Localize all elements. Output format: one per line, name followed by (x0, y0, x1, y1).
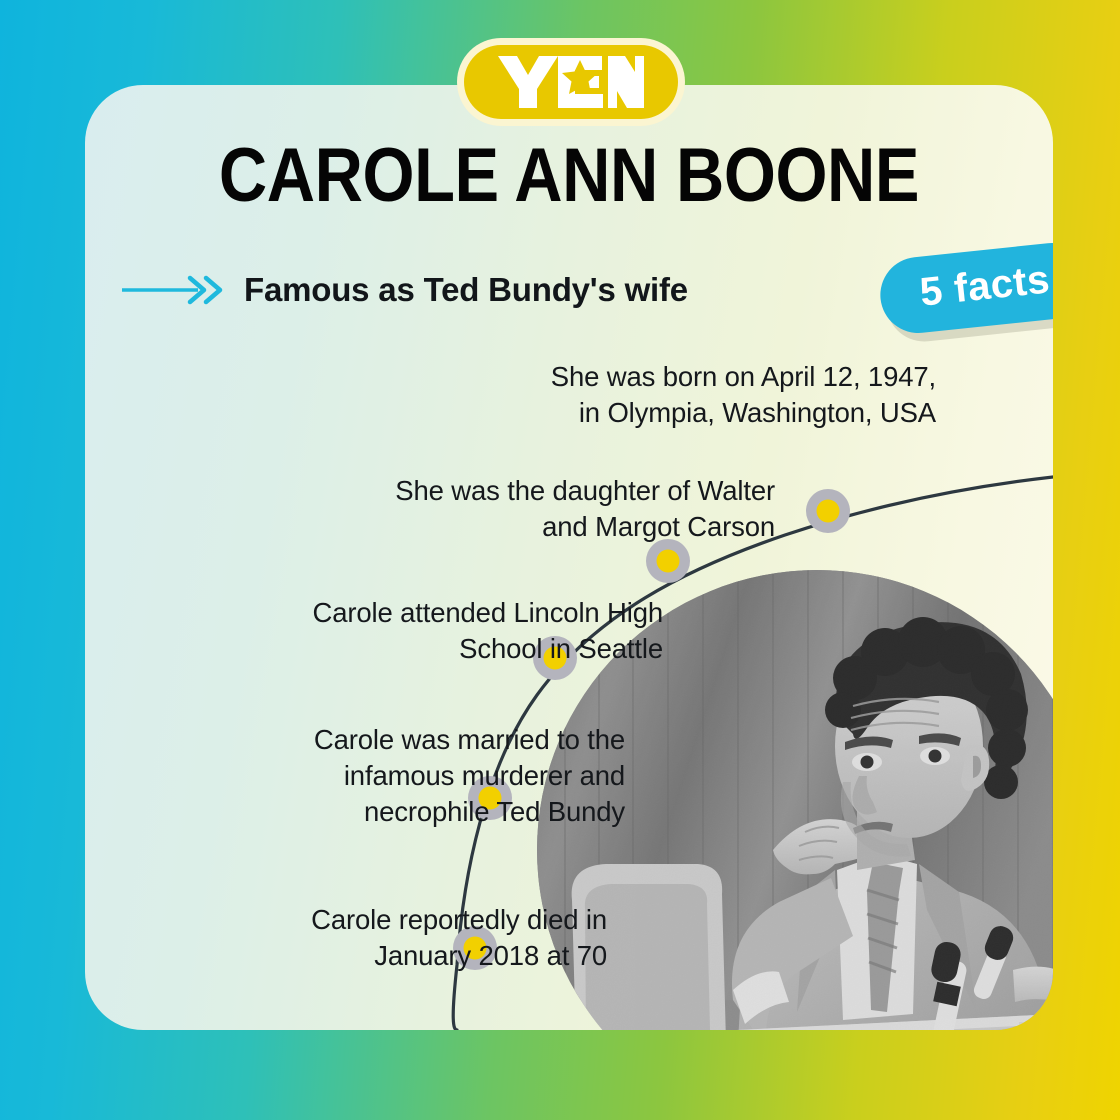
timeline-marker (806, 489, 850, 533)
fact-1-line-2: in Olympia, Washington, USA (476, 395, 936, 431)
page-subtitle: Famous as Ted Bundy's wife (244, 271, 688, 309)
fact-5: Carole reportedly died in January 2018 a… (267, 902, 607, 974)
infographic-card: CAROLE ANN BOONE Famous as Ted Bundy's w… (85, 85, 1053, 1030)
long-arrow-right-icon (120, 274, 230, 306)
fact-5-line-2: January 2018 at 70 (267, 938, 607, 974)
fact-3-line-2: School in Seattle (263, 631, 663, 667)
fact-2-line-2: and Margot Carson (355, 509, 775, 545)
facts-count-badge-label: 5 facts (918, 257, 1052, 315)
facts-count-badge[interactable]: 5 facts (877, 239, 1053, 337)
fact-5-line-1: Carole reportedly died in (267, 902, 607, 938)
fact-4-line-1: Carole was married to the (275, 722, 625, 758)
facts-count-badge-inner: 5 facts (877, 239, 1053, 337)
page-title: CAROLE ANN BOONE (143, 138, 995, 214)
fact-2-line-1: She was the daughter of Walter (355, 473, 775, 509)
fact-3: Carole attended Lincoln High School in S… (263, 595, 663, 667)
fact-4-line-2: infamous murderer and (275, 758, 625, 794)
fact-4-line-3: necrophile Ted Bundy (275, 794, 625, 830)
fact-1: She was born on April 12, 1947, in Olymp… (476, 359, 936, 431)
fact-3-line-1: Carole attended Lincoln High (263, 595, 663, 631)
fact-4: Carole was married to the infamous murde… (275, 722, 625, 829)
brand-logo[interactable] (457, 38, 685, 126)
timeline-marker (646, 539, 690, 583)
fact-2: She was the daughter of Walter and Margo… (355, 473, 775, 545)
subtitle-row: Famous as Ted Bundy's wife (120, 271, 688, 309)
fact-1-line-1: She was born on April 12, 1947, (476, 359, 936, 395)
yen-star-logo-icon (457, 38, 685, 126)
